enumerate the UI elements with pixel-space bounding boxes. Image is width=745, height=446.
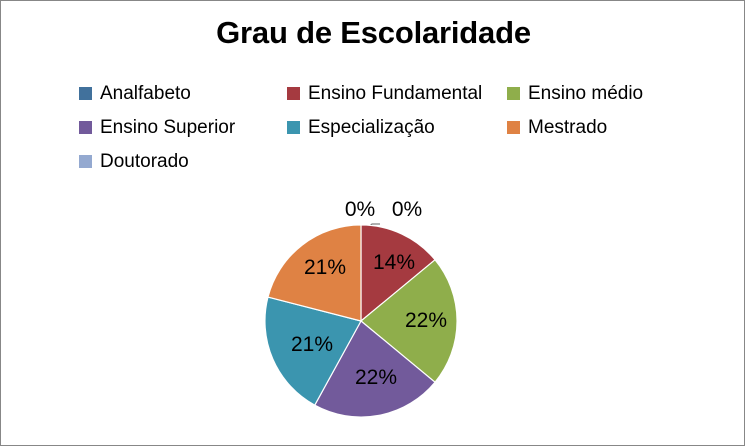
legend-item-analfabeto[interactable]: Analfabeto [79, 81, 287, 115]
legend-item-doutorado[interactable]: Doutorado [79, 149, 287, 183]
legend-label-ensino-medio: Ensino médio [528, 81, 643, 107]
legend-item-ensino-superior[interactable]: Ensino Superior [79, 115, 287, 149]
legend-label-mestrado: Mestrado [528, 115, 607, 141]
slice-label-ensino-superior: 22% [355, 366, 397, 390]
slice-label-mestrado: 21% [304, 256, 346, 280]
legend-row: Analfabeto Ensino Fundamental Ensino méd… [79, 81, 679, 115]
legend-label-doutorado: Doutorado [100, 149, 189, 175]
legend-swatch-doutorado [79, 155, 92, 168]
legend-swatch-ensino-fundamental [287, 87, 300, 100]
legend-label-especializacao: Especialização [308, 115, 435, 141]
pie-chart-container: Grau de Escolaridade Analfabeto Ensino F… [0, 0, 745, 446]
slice-label-doutorado: 0% [392, 198, 422, 222]
legend-row: Ensino Superior Especialização Mestrado [79, 115, 679, 149]
pie-graphic: 14% 22% 22% 21% 21% [263, 223, 459, 419]
chart-legend: Analfabeto Ensino Fundamental Ensino méd… [79, 81, 679, 183]
slice-label-ensino-fundamental: 14% [373, 251, 415, 275]
legend-item-ensino-medio[interactable]: Ensino médio [507, 81, 687, 115]
legend-label-ensino-fundamental: Ensino Fundamental [308, 81, 482, 107]
legend-swatch-ensino-superior [79, 121, 92, 134]
chart-title: Grau de Escolaridade [1, 15, 745, 51]
slice-label-especializacao: 21% [291, 333, 333, 357]
legend-swatch-especializacao [287, 121, 300, 134]
legend-item-especializacao[interactable]: Especialização [287, 115, 507, 149]
legend-swatch-ensino-medio [507, 87, 520, 100]
legend-label-analfabeto: Analfabeto [100, 81, 191, 107]
legend-swatch-mestrado [507, 121, 520, 134]
slice-label-ensino-medio: 22% [405, 309, 447, 333]
legend-label-ensino-superior: Ensino Superior [100, 115, 235, 141]
legend-row: Doutorado [79, 149, 679, 183]
legend-swatch-analfabeto [79, 87, 92, 100]
legend-item-mestrado[interactable]: Mestrado [507, 115, 687, 149]
legend-item-ensino-fundamental[interactable]: Ensino Fundamental [287, 81, 507, 115]
